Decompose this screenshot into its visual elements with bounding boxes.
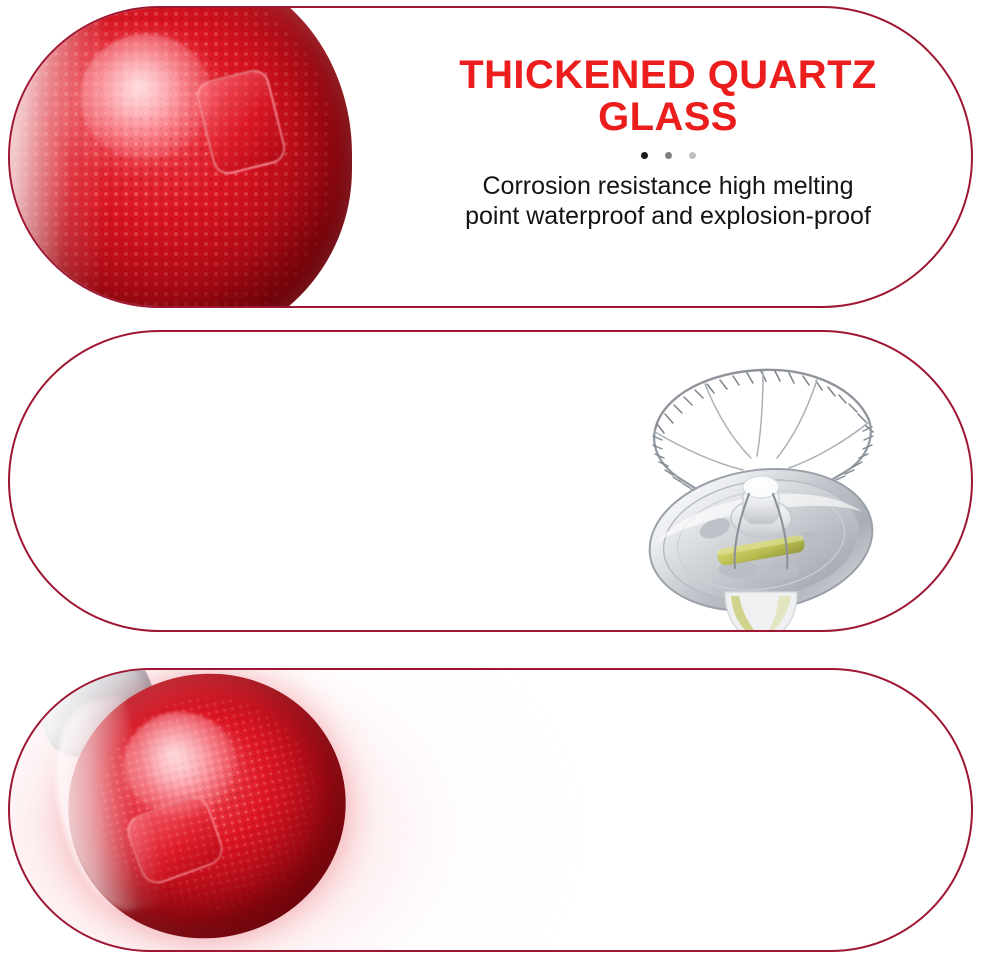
separator-dot-2	[665, 152, 672, 159]
glowing-red-bulb-image	[20, 668, 360, 952]
panel-1-body-text: Corrosion resistance high melting point …	[408, 171, 928, 232]
separator-dot-1	[641, 152, 648, 159]
panel-1-text-block: THICKENED QUARTZ GLASS Corrosion resista…	[408, 54, 928, 232]
tungsten-filament-stem-assembly-image	[593, 344, 923, 632]
panel-1-heading: THICKENED QUARTZ GLASS	[408, 54, 928, 139]
bulb-edge-glow	[8, 6, 356, 308]
feature-panel-quartz-glass: THICKENED QUARTZ GLASS Corrosion resista…	[8, 6, 973, 308]
feature-panel-hot-as-soon-as-on: HOT AS SOON AS IT'S ON Spherical design,…	[8, 668, 973, 952]
bulb-base-rivet	[84, 668, 95, 679]
red-dimpled-bulb-closeup-image	[8, 6, 392, 308]
separator-dot-3	[689, 152, 696, 159]
feature-panel-tungsten-wire: DURABLE THICK TUNGSTEN WIRE 8000 hours l…	[8, 330, 973, 632]
three-dot-separator	[408, 152, 928, 159]
infographic-canvas: THICKENED QUARTZ GLASS Corrosion resista…	[0, 0, 981, 963]
